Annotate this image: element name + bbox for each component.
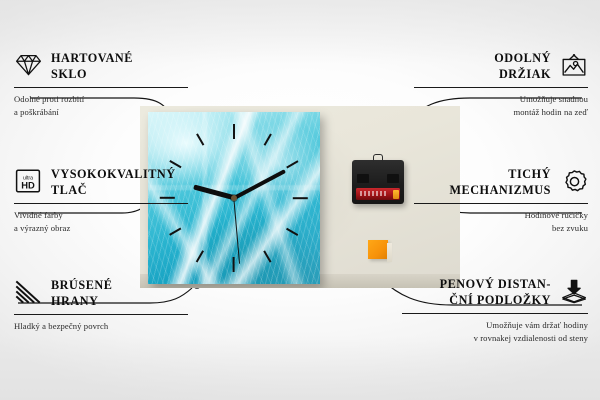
foam-spacer-pad-side [387, 243, 392, 262]
feature-divider [414, 203, 588, 204]
feature-title: PENOVÝ DISTAN- ČNÍ PODLOŽKY [440, 276, 551, 308]
feature-title-line2: TLAČ [51, 183, 87, 197]
mechanism-battery [356, 188, 400, 200]
feature-title-line1: VYSOKOKVALITNÝ [51, 167, 176, 181]
clock-tick-12 [233, 124, 235, 198]
feature-desc-line2: a výrazný obraz [14, 223, 70, 233]
feature-title-line1: TICHÝ [508, 167, 551, 181]
clock-tick-3 [234, 197, 308, 199]
feature-hardened-glass: HARTOVANÉ SKLO Odolné proti rozbití a po… [14, 50, 188, 118]
battery-positive-terminal [393, 190, 399, 199]
feature-header: ODOLNÝ DRŽIAK [414, 50, 588, 82]
feature-divider [402, 313, 588, 314]
feature-description: Vividné farby a výrazný obraz [14, 209, 188, 233]
feature-desc-line1: Vividné farby [14, 210, 63, 220]
feature-title: TICHÝ MECHANIZMUS [449, 166, 551, 198]
feature-header: HARTOVANÉ SKLO [14, 50, 188, 82]
feature-title-line2: SKLO [51, 67, 87, 81]
ground-edges-icon [14, 278, 42, 306]
feature-desc-line2: montáž hodin na zeď [513, 107, 588, 117]
feature-hd-print: ultra HD VYSOKOKVALITNÝ TLAČ Vividné far… [14, 166, 188, 234]
feature-desc-line2: v rovnakej vzdialenosti od steny [474, 333, 588, 343]
feature-title-line1: PENOVÝ DISTAN- [440, 277, 551, 291]
feature-silent-mechanism: TICHÝ MECHANIZMUS Hodinové ručičky bez z… [414, 166, 588, 234]
feature-title-line1: HARTOVANÉ [51, 51, 133, 65]
feature-foam-spacers: PENOVÝ DISTAN- ČNÍ PODLOŽKY Umožňuje vám… [402, 276, 588, 344]
feature-description: Umožňuje vám držať hodiny v rovnakej vzd… [402, 319, 588, 343]
mechanism-notch-right [387, 174, 399, 183]
feature-title-line2: DRŽIAK [499, 67, 551, 81]
picture-hanger-icon [560, 51, 588, 79]
feature-divider [14, 87, 188, 88]
foam-spacer-icon [560, 277, 588, 305]
mechanism-shaft [373, 154, 383, 162]
feature-description: Hodinové ručičky bez zvuku [414, 209, 588, 233]
feature-desc-line1: Hodinové ručičky [525, 210, 588, 220]
feature-divider [414, 87, 588, 88]
feature-divider [14, 314, 188, 315]
feature-desc-line1: Umožňuje snadnou [520, 94, 588, 104]
feature-description: Hladký a bezpečný povrch [14, 320, 188, 332]
feature-description: Umožňuje snadnou montáž hodin na zeď [414, 93, 588, 117]
infographic-stage: HARTOVANÉ SKLO Odolné proti rozbití a po… [0, 0, 600, 400]
feature-durable-hanger: ODOLNÝ DRŽIAK Umožňuje snadnou montáž ho… [414, 50, 588, 118]
gear-icon [560, 167, 588, 195]
feature-desc-line1: Umožňuje vám držať hodiny [486, 320, 588, 330]
feature-title-line2: MECHANIZMUS [449, 183, 551, 197]
mechanism-notch-left [357, 174, 369, 183]
product-photo [140, 106, 460, 288]
feature-divider [14, 203, 188, 204]
feature-desc-line1: Odolné proti rozbití [14, 94, 84, 104]
feature-title-line2: ČNÍ PODLOŽKY [449, 293, 551, 307]
clock-mechanism [352, 160, 404, 204]
feature-title-line2: HRANY [51, 294, 98, 308]
feature-header: BRÚSENÉ HRANY [14, 277, 188, 309]
battery-label [360, 191, 386, 196]
feature-desc-line2: bez zvuku [552, 223, 588, 233]
feature-desc-line2: a poškrábání [14, 107, 59, 117]
feature-title: HARTOVANÉ SKLO [51, 50, 133, 82]
foam-spacer-pad [368, 240, 388, 259]
clock-hand-cap [231, 195, 237, 201]
feature-ground-edges: BRÚSENÉ HRANY Hladký a bezpečný povrch [14, 277, 188, 333]
feature-title-line1: BRÚSENÉ [51, 278, 112, 292]
diamond-icon [14, 51, 42, 79]
ultra-hd-icon: ultra HD [14, 167, 42, 195]
feature-title: BRÚSENÉ HRANY [51, 277, 112, 309]
feature-desc-line1: Hladký a bezpečný povrch [14, 321, 108, 331]
feature-title: VYSOKOKVALITNÝ TLAČ [51, 166, 176, 198]
svg-text:HD: HD [21, 179, 35, 190]
feature-header: TICHÝ MECHANIZMUS [414, 166, 588, 198]
feature-description: Odolné proti rozbití a poškrábání [14, 93, 188, 117]
feature-header: PENOVÝ DISTAN- ČNÍ PODLOŽKY [402, 276, 588, 308]
feature-title: ODOLNÝ DRŽIAK [494, 50, 551, 82]
feature-header: ultra HD VYSOKOKVALITNÝ TLAČ [14, 166, 188, 198]
feature-title-line1: ODOLNÝ [494, 51, 551, 65]
